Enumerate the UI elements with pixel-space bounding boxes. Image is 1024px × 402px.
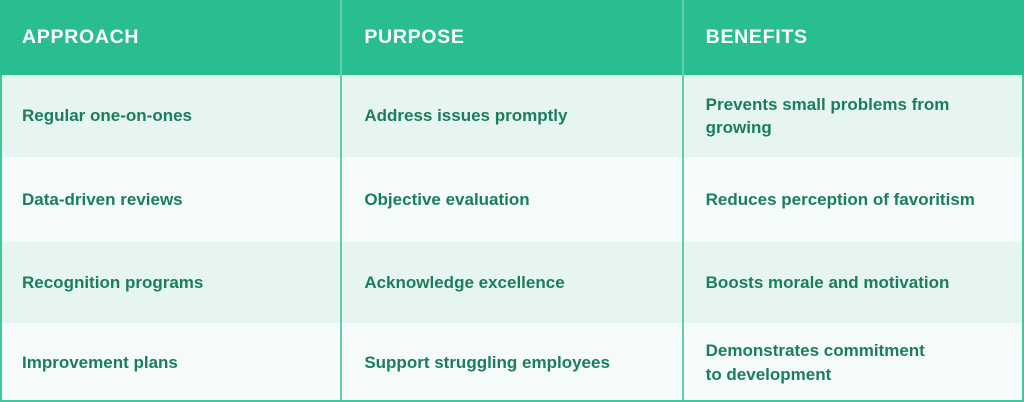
table-header: APPROACH PURPOSE BENEFITS (0, 0, 1024, 75)
cell-benefits: Reduces perception of favoritism (683, 157, 1024, 242)
cell-benefits: Demonstrates commitment to development (683, 323, 1024, 402)
cell-benefits-line-1: Prevents small problems from growing (706, 93, 1008, 140)
comparison-table-container: APPROACH PURPOSE BENEFITS Regular one-on… (0, 0, 1024, 402)
cell-benefits: Boosts morale and motivation (683, 242, 1024, 323)
approach-purpose-benefits-table: APPROACH PURPOSE BENEFITS Regular one-on… (0, 0, 1024, 402)
cell-purpose: Acknowledge excellence (341, 242, 682, 323)
cell-approach: Recognition programs (0, 242, 341, 323)
cell-benefits: Prevents small problems from growing (683, 75, 1024, 157)
table-body: Regular one-on-ones Address issues promp… (0, 75, 1024, 402)
column-header-benefits: BENEFITS (683, 0, 1024, 75)
table-row: Improvement plans Support struggling emp… (0, 323, 1024, 402)
table-row: Data-driven reviews Objective evaluation… (0, 157, 1024, 242)
cell-purpose: Address issues promptly (341, 75, 682, 157)
cell-benefits-line-1: Reduces perception of favoritism (706, 188, 1008, 211)
cell-benefits-line-1: Demonstrates commitment (706, 339, 1008, 362)
cell-purpose: Support struggling employees (341, 323, 682, 402)
table-row: Regular one-on-ones Address issues promp… (0, 75, 1024, 157)
cell-benefits-line-2: to development (706, 363, 1008, 386)
table-header-row: APPROACH PURPOSE BENEFITS (0, 0, 1024, 75)
column-header-purpose: PURPOSE (341, 0, 682, 75)
cell-benefits-line-1: Boosts morale and motivation (706, 271, 1008, 294)
cell-purpose: Objective evaluation (341, 157, 682, 242)
table-row: Recognition programs Acknowledge excelle… (0, 242, 1024, 323)
cell-approach: Regular one-on-ones (0, 75, 341, 157)
column-header-approach: APPROACH (0, 0, 341, 75)
cell-approach: Data-driven reviews (0, 157, 341, 242)
cell-approach: Improvement plans (0, 323, 341, 402)
